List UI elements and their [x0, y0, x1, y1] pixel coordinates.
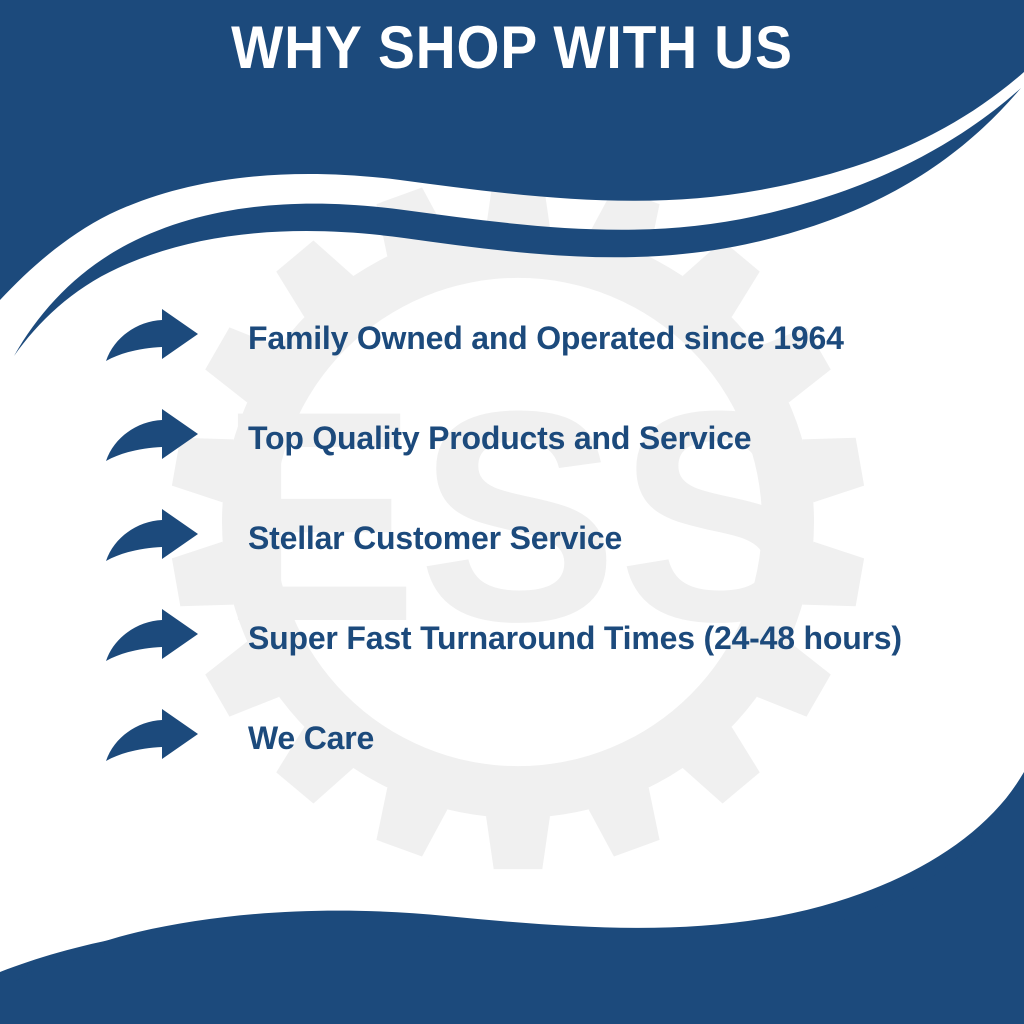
gear-tooth: [486, 816, 550, 869]
gear-tooth: [589, 187, 660, 256]
benefit-label: We Care: [248, 719, 374, 757]
bottom-wave-band: [0, 772, 1024, 1024]
curved-arrow-icon: [104, 707, 200, 769]
benefit-label: Super Fast Turnaround Times (24-48 hours…: [248, 619, 902, 657]
benefits-list: Family Owned and Operated since 1964 Top…: [0, 288, 1024, 788]
benefit-label: Family Owned and Operated since 1964: [248, 319, 844, 357]
curved-arrow-icon: [104, 407, 200, 469]
list-item: Top Quality Products and Service: [0, 388, 1024, 488]
page-title: WHY SHOP WITH US: [41, 14, 983, 82]
gear-tooth: [376, 788, 447, 857]
why-shop-with-us-poster: ESS WHY SHOP WITH US Family Owned and Op…: [0, 0, 1024, 1024]
benefit-label: Top Quality Products and Service: [248, 419, 751, 457]
list-item: Family Owned and Operated since 1964: [0, 288, 1024, 388]
bottom-swoosh-arc: [14, 776, 1022, 982]
gear-tooth: [376, 187, 447, 256]
list-item: We Care: [0, 688, 1024, 788]
benefit-label: Stellar Customer Service: [248, 519, 622, 557]
list-item: Stellar Customer Service: [0, 488, 1024, 588]
curved-arrow-icon: [104, 307, 200, 369]
list-item: Super Fast Turnaround Times (24-48 hours…: [0, 588, 1024, 688]
curved-arrow-icon: [104, 607, 200, 669]
gear-tooth: [589, 788, 660, 857]
gear-tooth: [486, 175, 550, 228]
curved-arrow-icon: [104, 507, 200, 569]
